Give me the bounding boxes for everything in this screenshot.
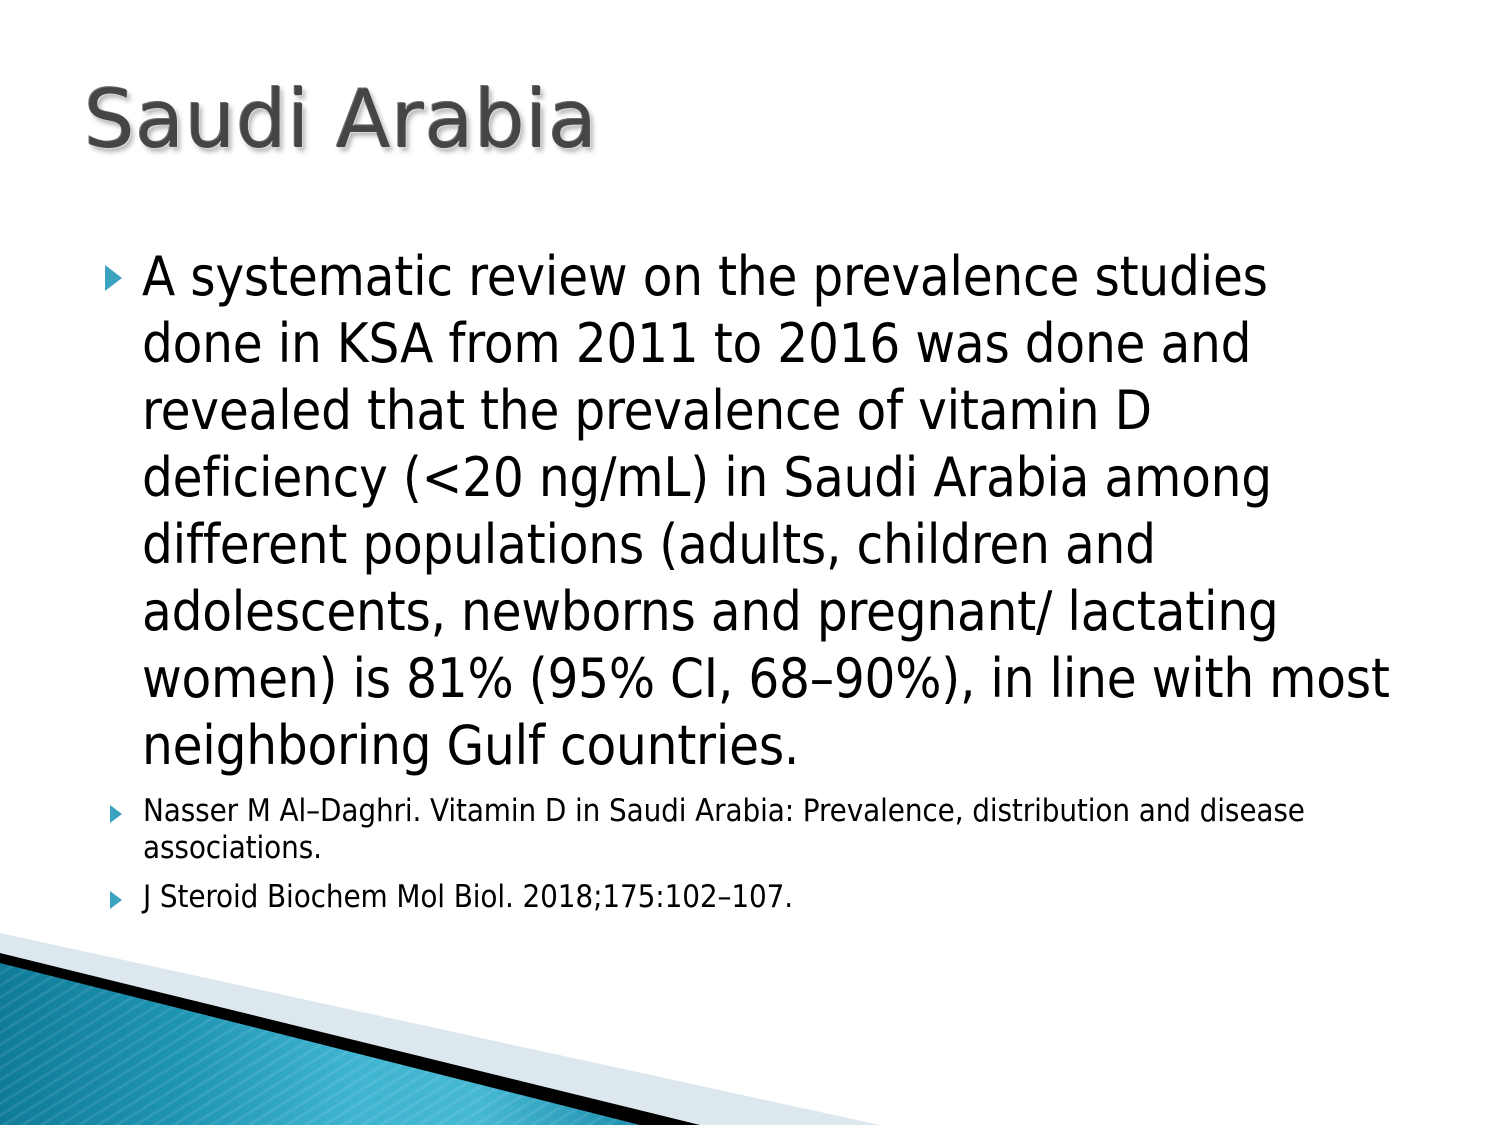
slide-canvas: Saudi Arabia A systematic review on the … — [0, 0, 1500, 1125]
triangle-right-bullet-icon — [110, 891, 122, 909]
triangle-right-bullet-icon — [105, 265, 122, 291]
black-stripe — [0, 953, 700, 1125]
list-item: A systematic review on the prevalence st… — [96, 243, 1426, 779]
teal-wedge — [0, 963, 640, 1125]
slide-body: A systematic review on the prevalence st… — [96, 243, 1426, 926]
main-bullet-text: A systematic review on the prevalence st… — [142, 243, 1402, 779]
bottom-left-diagonal-banner — [0, 925, 1500, 1125]
teal-wedge-texture — [0, 963, 640, 1125]
reference-citation-text: Nasser M Al–Daghri. Vitamin D in Saudi A… — [143, 793, 1323, 867]
page-title: Saudi Arabia — [84, 78, 1384, 162]
list-item: J Steroid Biochem Mol Biol. 2018;175:102… — [96, 879, 1426, 916]
page-title-container: Saudi Arabia — [84, 78, 1384, 188]
triangle-right-bullet-icon — [110, 805, 122, 823]
journal-citation-text: J Steroid Biochem Mol Biol. 2018;175:102… — [143, 879, 793, 916]
pale-blue-stripe — [0, 933, 880, 1125]
list-item: Nasser M Al–Daghri. Vitamin D in Saudi A… — [96, 793, 1426, 867]
